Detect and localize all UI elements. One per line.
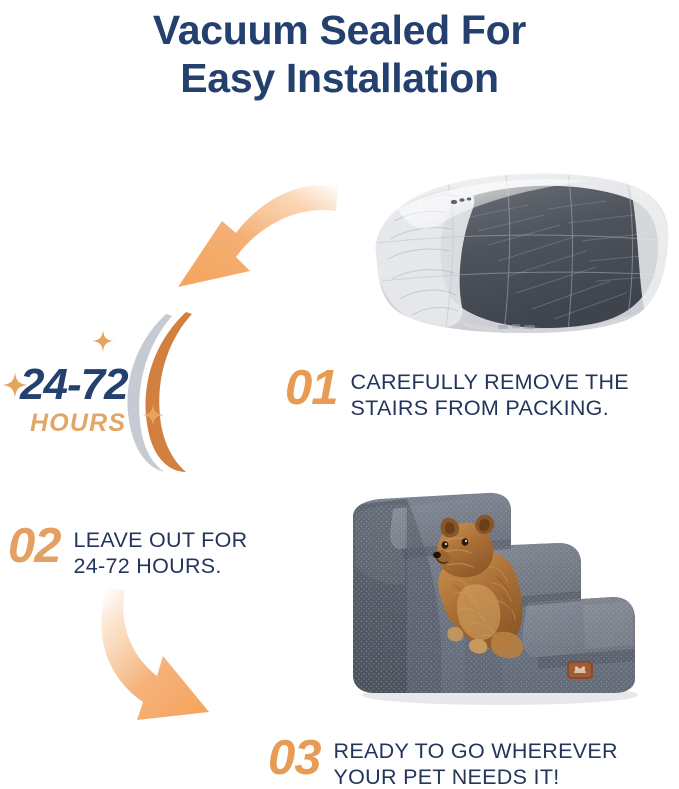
step-01-line-2: STAIRS FROM PACKING. [351,395,629,421]
badge-duration-number: 24-72 [20,360,128,410]
page-title-line-2: Easy Installation [0,54,679,102]
sparkle-top-icon [92,330,114,352]
step-01-line-1: CAREFULLY REMOVE THE [351,369,629,395]
sparkle-left-icon [2,372,28,398]
duration-badge: 24-72 HOURS [0,312,250,472]
step-01-text: CAREFULLY REMOVE THE STAIRS FROM PACKING… [351,363,629,421]
badge-duration-unit: HOURS [30,409,126,438]
infographic-page: Vacuum Sealed For Easy Installation [0,0,679,789]
step-02-line-2: 24-72 HOURS. [74,553,248,579]
brand-logo-tag [567,661,593,679]
sparkle-right-icon [142,404,164,426]
step-03: 03 READY TO GO WHEREVER YOUR PET NEEDS I… [268,733,618,789]
page-title: Vacuum Sealed For Easy Installation [0,6,679,102]
step-02: 02 LEAVE OUT FOR 24-72 HOURS. [8,521,247,579]
step-03-number: 03 [268,733,321,783]
step-01: 01 CAREFULLY REMOVE THE STAIRS FROM PACK… [285,363,629,421]
arrow-step-03 [85,580,270,725]
vacuum-sealed-package-photo [338,157,678,342]
step-02-line-1: LEAVE OUT FOR [74,527,248,553]
arrow-step-01 [150,165,340,295]
step-01-number: 01 [285,363,338,413]
step-03-line-2: YOUR PET NEEDS IT! [334,764,618,789]
step-02-text: LEAVE OUT FOR 24-72 HOURS. [74,521,248,579]
step-02-number: 02 [8,521,61,571]
step-03-line-1: READY TO GO WHEREVER [334,738,618,764]
pet-stairs-with-dog-photo [345,465,665,710]
step-03-text: READY TO GO WHEREVER YOUR PET NEEDS IT! [334,733,618,789]
page-title-line-1: Vacuum Sealed For [0,6,679,54]
